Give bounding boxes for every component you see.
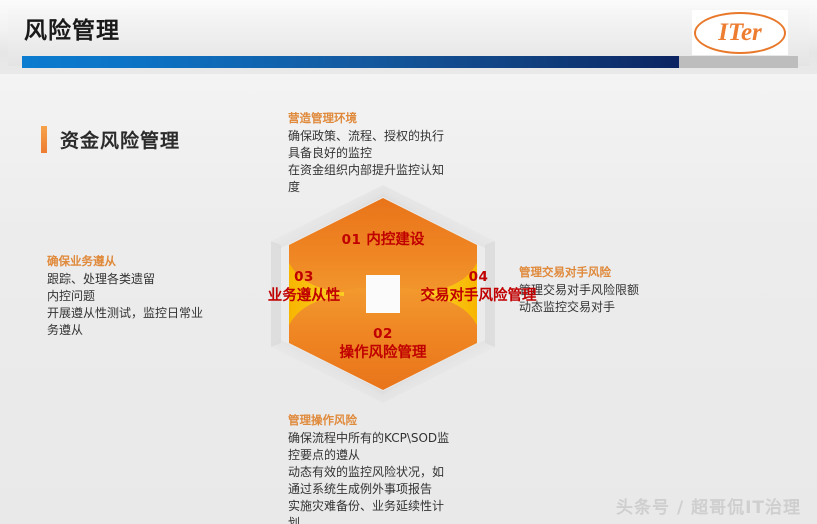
callout-right-line: 管理交易对手风险限额 [519, 282, 749, 299]
page-title: 风险管理 [24, 16, 120, 46]
callout-top-line: 确保政策、流程、授权的执行 [288, 128, 503, 145]
callout-top-line: 在资金组织内部提升监控认知 [288, 162, 503, 179]
watermark: 头条号 / 超哥侃IT治理 [616, 493, 801, 518]
callout-bottom-heading: 管理操作风险 [288, 412, 513, 429]
section-accent-bar-icon [41, 126, 47, 153]
hexagon-diagram-svg [240, 183, 526, 405]
callout-right-line: 动态监控交易对手 [519, 299, 749, 316]
callout-bottom-line: 控要点的遵从 [288, 447, 513, 464]
section-title: 资金风险管理 [60, 126, 180, 153]
callout-bottom: 管理操作风险 确保流程中所有的KCP\SOD监 控要点的遵从 动态有效的监控风险… [288, 412, 513, 524]
hexagon-diagram: 01 内控建设 02 操作风险管理 03 业务遵从性 04 交易对手风险管理 [240, 183, 526, 405]
section-heading: 资金风险管理 [41, 126, 180, 153]
header-accent-bar-grey [679, 56, 798, 68]
callout-top-line: 具备良好的监控 [288, 145, 503, 162]
callout-bottom-line: 确保流程中所有的KCP\SOD监 [288, 430, 513, 447]
callout-top-heading: 营造管理环境 [288, 110, 503, 127]
callout-left-body: 跟踪、处理各类遗留 内控问题 开展遵从性测试，监控日常业 务遵从 [47, 271, 237, 339]
slide-header: 风险管理 ITer [0, 0, 817, 74]
logo: ITer [692, 10, 788, 55]
callout-bottom-body: 确保流程中所有的KCP\SOD监 控要点的遵从 动态有效的监控风险状况，如 通过… [288, 430, 513, 524]
header-accent-bar [22, 56, 679, 68]
callout-left: 确保业务遵从 跟踪、处理各类遗留 内控问题 开展遵从性测试，监控日常业 务遵从 [47, 253, 237, 339]
callout-right-heading: 管理交易对手风险 [519, 264, 749, 281]
callout-right: 管理交易对手风险 管理交易对手风险限额 动态监控交易对手 [519, 264, 749, 316]
slide-canvas: 风险管理 ITer 资金风险管理 营造管理环境 确保政策、流程、授权的执行 具备… [0, 0, 817, 524]
callout-bottom-line: 划 [288, 515, 513, 524]
diagram-center-gap [366, 275, 400, 313]
callout-left-heading: 确保业务遵从 [47, 253, 237, 270]
callout-bottom-line: 通过系统生成例外事项报告 [288, 481, 513, 498]
callout-left-line: 跟踪、处理各类遗留 [47, 271, 237, 288]
callout-left-line: 务遵从 [47, 322, 237, 339]
callout-right-body: 管理交易对手风险限额 动态监控交易对手 [519, 282, 749, 316]
callout-left-line: 开展遵从性测试，监控日常业 [47, 305, 237, 322]
callout-bottom-line: 动态有效的监控风险状况，如 [288, 464, 513, 481]
logo-oval-icon: ITer [694, 12, 786, 54]
callout-bottom-line: 实施灾难备份、业务延续性计 [288, 498, 513, 515]
logo-text: ITer [718, 20, 762, 45]
callout-left-line: 内控问题 [47, 288, 237, 305]
